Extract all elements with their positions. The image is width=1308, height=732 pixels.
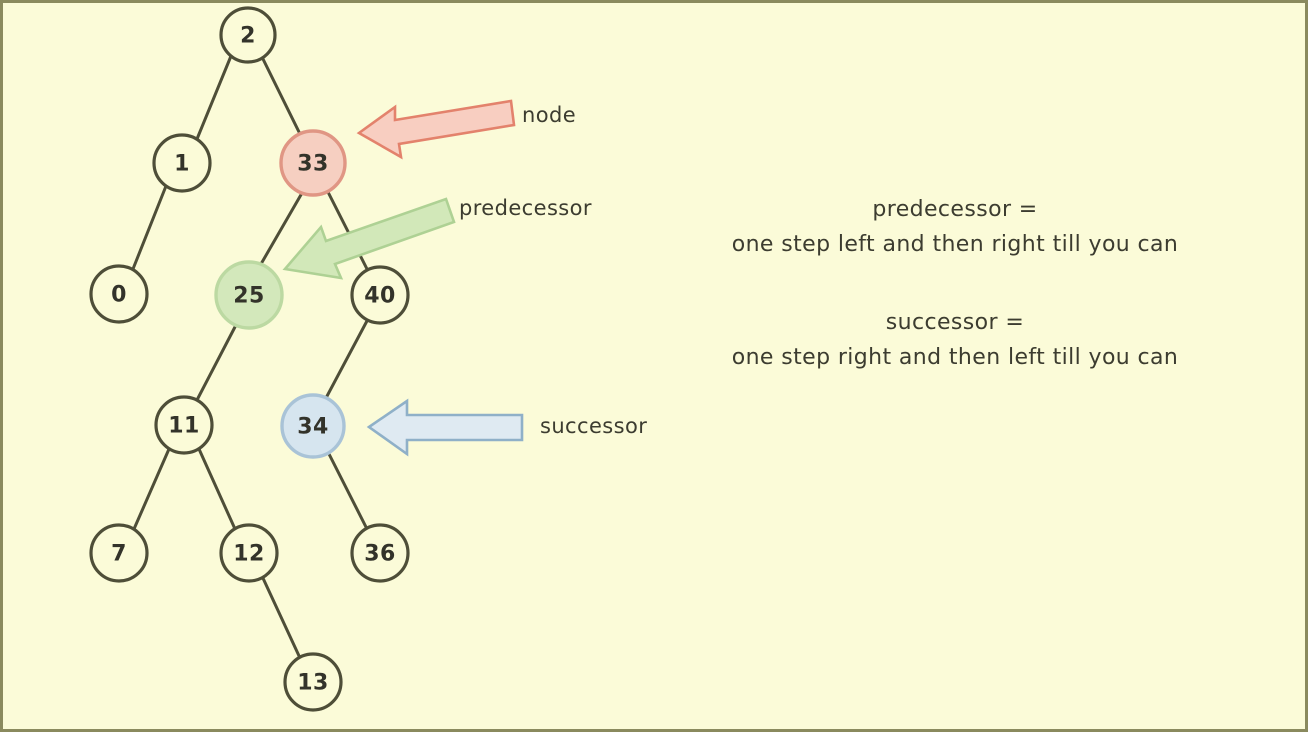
edge-1-0 [133, 186, 166, 269]
edge-40-34 [326, 319, 368, 398]
node-value: 7 [111, 542, 127, 567]
edge-25-11 [197, 325, 236, 400]
edge-12-13 [262, 576, 300, 658]
edge-11-7 [134, 449, 169, 529]
edge-34-36 [328, 452, 367, 529]
node-value: 34 [297, 415, 329, 440]
node-value: 12 [233, 542, 265, 567]
tree-node-13[interactable]: 13 [285, 654, 341, 710]
edge-11-12 [199, 449, 235, 529]
tree-node-40[interactable]: 40 [352, 267, 408, 323]
node-value: 11 [168, 414, 200, 439]
node-value: 25 [233, 284, 265, 309]
node-value: 2 [240, 24, 256, 49]
successor-note-body: one step right and then left till you ca… [655, 341, 1255, 374]
node-value: 33 [297, 152, 329, 177]
tree-node-34[interactable]: 34 [282, 395, 344, 457]
tree-node-25[interactable]: 25 [216, 262, 282, 328]
tree-nodes: 2 1 33 0 25 40 [91, 8, 408, 710]
tree-node-7[interactable]: 7 [91, 525, 147, 581]
predecessor-callout-label: predecessor [459, 196, 592, 220]
tree-node-11[interactable]: 11 [156, 397, 212, 453]
node-value: 40 [364, 284, 396, 309]
node-callout-label: node [522, 103, 576, 127]
predecessor-definition-note: predecessor = one step left and then rig… [655, 193, 1255, 262]
diagram-canvas: 2 1 33 0 25 40 [0, 0, 1308, 732]
predecessor-note-body: one step left and then right till you ca… [655, 228, 1255, 261]
tree-node-2[interactable]: 2 [221, 8, 275, 62]
successor-callout-label: successor [540, 414, 647, 438]
node-callout-arrow-icon [359, 101, 514, 157]
predecessor-note-title: predecessor = [655, 193, 1255, 226]
successor-definition-note: successor = one step right and then left… [655, 306, 1255, 375]
successor-note-title: successor = [655, 306, 1255, 339]
edge-33-25 [261, 193, 302, 264]
successor-callout-arrow-icon [369, 401, 522, 454]
node-value: 0 [111, 283, 127, 308]
node-value: 36 [364, 542, 396, 567]
tree-node-36[interactable]: 36 [352, 525, 408, 581]
node-value: 1 [174, 152, 190, 177]
tree-node-33[interactable]: 33 [281, 131, 345, 195]
node-value: 13 [297, 671, 329, 696]
edge-2-1 [197, 56, 231, 139]
tree-node-12[interactable]: 12 [221, 525, 277, 581]
predecessor-callout-arrow-icon [285, 199, 454, 278]
tree-node-0[interactable]: 0 [91, 266, 147, 322]
tree-node-1[interactable]: 1 [154, 135, 210, 191]
edge-2-33 [263, 59, 300, 134]
